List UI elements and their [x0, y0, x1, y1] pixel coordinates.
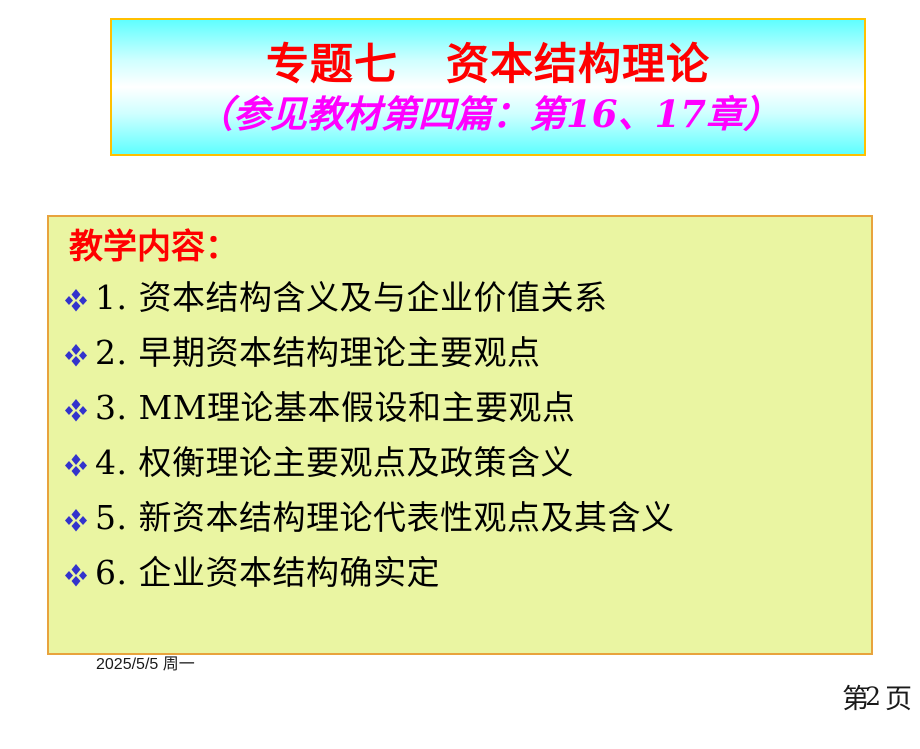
content-panel: 教学内容： 1. 资本结构含义及与企业价值关系: [47, 215, 873, 655]
diamond-cluster-bullet-icon: [63, 287, 89, 313]
teaching-contents-list: 1. 资本结构含义及与企业价值关系 2. 早期资本结构理论主要观点: [63, 271, 861, 600]
list-item-label: 3. MM理论基本假设和主要观点: [95, 390, 576, 426]
diamond-cluster-bullet-icon: [63, 507, 89, 533]
footer-date: 2025/5/5 周一: [96, 655, 195, 674]
list-item: 2. 早期资本结构理论主要观点: [63, 326, 861, 380]
diamond-cluster-bullet-icon: [63, 562, 89, 588]
slide-title: 专题七 资本结构理论: [266, 41, 710, 89]
list-item-label: 1. 资本结构含义及与企业价值关系: [95, 280, 607, 316]
list-item-label: 6. 企业资本结构确实定: [95, 555, 440, 591]
list-item-label: 2. 早期资本结构理论主要观点: [95, 335, 540, 371]
footer-page-number: 第2页: [808, 652, 912, 749]
diamond-cluster-bullet-icon: [63, 342, 89, 368]
list-item: 4. 权衡理论主要观点及政策含义: [63, 436, 861, 490]
list-item-label: 4. 权衡理论主要观点及政策含义: [95, 445, 574, 481]
diamond-cluster-bullet-icon: [63, 452, 89, 478]
page-number: 2: [865, 682, 881, 711]
page-suffix: 页: [885, 684, 912, 715]
title-banner: 专题七 资本结构理论 （参见教材第四篇：第16、17章）: [110, 18, 866, 156]
list-item: 5. 新资本结构理论代表性观点及其含义: [63, 491, 861, 545]
list-item: 3. MM理论基本假设和主要观点: [63, 381, 861, 435]
content-heading: 教学内容：: [69, 227, 861, 267]
list-item: 1. 资本结构含义及与企业价值关系: [63, 271, 861, 325]
slide-subtitle: （参见教材第四篇：第16、17章）: [196, 93, 780, 136]
diamond-cluster-bullet-icon: [63, 397, 89, 423]
slide-canvas: 专题七 资本结构理论 （参见教材第四篇：第16、17章） 教学内容：: [0, 0, 920, 690]
list-item-label: 5. 新资本结构理论代表性观点及其含义: [95, 500, 674, 536]
list-item: 6. 企业资本结构确实定: [63, 546, 861, 600]
